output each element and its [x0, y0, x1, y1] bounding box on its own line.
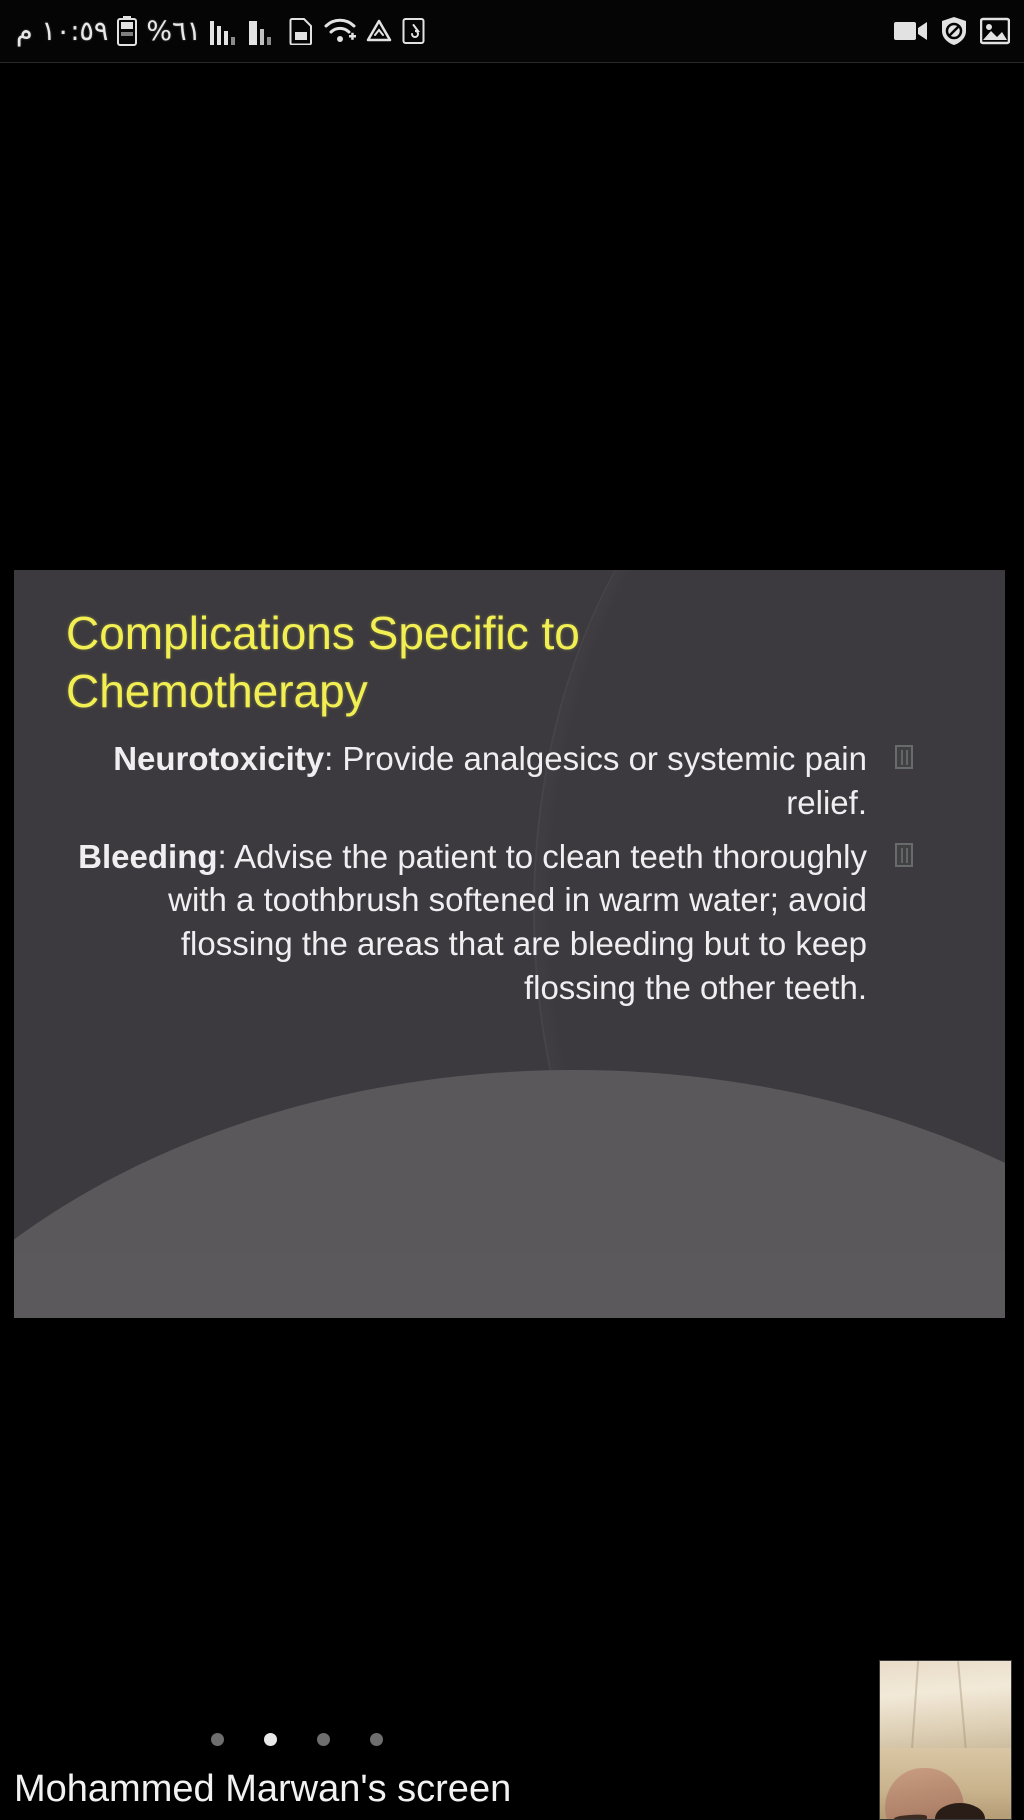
slide-decorative-arc-line [712, 1068, 1005, 1318]
wifi-hotspot-icon [324, 18, 356, 44]
slide-decorative-arc-light [14, 1070, 1005, 1318]
self-view-face-brow [894, 1814, 927, 1820]
slide-footer-band [14, 1252, 1005, 1318]
slide-bullet-bleeding: Bleeding: Advise the patient to clean te… [66, 835, 975, 1011]
sd-card-icon [288, 17, 315, 45]
status-bar-right-group [894, 16, 1010, 46]
page-dot-2[interactable] [264, 1733, 277, 1746]
slide-title: Complications Specific to Chemotherapy [66, 604, 706, 721]
slide-bullet-neurotoxicity: Neurotoxicity: Provide analgesics or sys… [66, 737, 975, 825]
shared-screen-owner-label: Mohammed Marwan's screen [14, 1768, 511, 1811]
signal-bars-secondary-icon [249, 17, 279, 45]
video-camera-icon [894, 19, 928, 43]
shield-block-icon [940, 16, 968, 46]
bullet-body-text: Advise the patient to clean teeth thorou… [168, 838, 867, 1007]
status-bar-clock: ١٠:٥٩ م [16, 16, 108, 47]
bullet-body-text: Provide analgesics or systemic pain reli… [342, 740, 867, 821]
screenshot-image-icon [980, 17, 1010, 45]
data-saver-icon [365, 18, 393, 44]
bullet-separator: : [218, 838, 235, 875]
slide-content: Complications Specific to Chemotherapy N… [14, 570, 1005, 1010]
bullet-separator: : [324, 740, 342, 777]
battery-icon [117, 16, 137, 46]
page-dot-1[interactable] [211, 1733, 224, 1746]
self-view-thumbnail[interactable] [879, 1660, 1012, 1820]
page-indicator-dots[interactable] [0, 1733, 1024, 1746]
bullet-lead-label: Neurotoxicity [113, 740, 324, 777]
bullet-lead-label: Bleeding [78, 838, 217, 875]
signal-bars-icon [210, 17, 240, 45]
page-dot-3[interactable] [317, 1733, 330, 1746]
self-view-ceiling [880, 1661, 1011, 1751]
clipboard-sync-icon [402, 17, 425, 45]
bullet-marker-icon [895, 745, 913, 769]
battery-percent-label: %٦١ [146, 16, 201, 47]
shared-screen-slide[interactable]: Complications Specific to Chemotherapy N… [14, 570, 1005, 1318]
status-bar: ١٠:٥٩ م %٦١ [0, 0, 1024, 63]
status-bar-left-group: ١٠:٥٩ م %٦١ [16, 16, 894, 47]
page-dot-4[interactable] [370, 1733, 383, 1746]
bullet-marker-icon [895, 843, 913, 867]
